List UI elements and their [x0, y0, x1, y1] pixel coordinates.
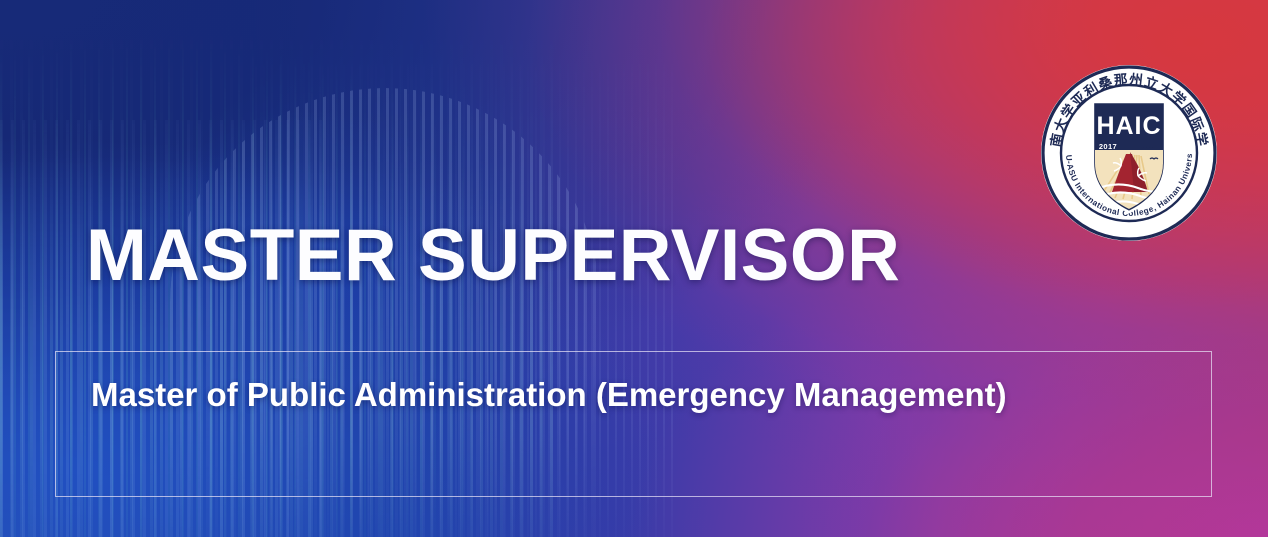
logo-year-label: 2017 — [1099, 142, 1117, 151]
program-title-box: Master of Public Administration (Emergen… — [55, 351, 1212, 497]
logo-shield-label: HAIC — [1096, 112, 1161, 140]
page-title: MASTER SUPERVISOR — [86, 219, 900, 292]
haic-logo: 海南大学亚利桑那州立大学国际学院 HNU-ASU International C… — [1038, 62, 1220, 244]
program-title: Master of Public Administration (Emergen… — [91, 368, 1101, 421]
master-supervisor-banner: MASTER SUPERVISOR Master of Public Admin… — [0, 0, 1268, 537]
